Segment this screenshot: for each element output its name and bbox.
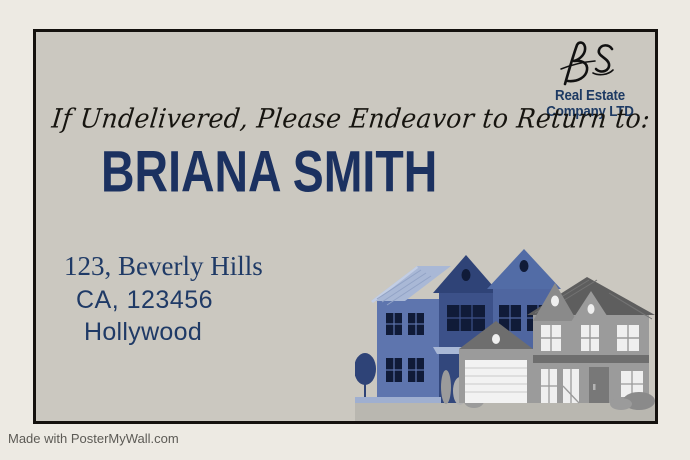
brand-name-line1: Real Estate: [539, 89, 640, 104]
address-line-city: Hollywood: [84, 316, 263, 349]
footer-credit: Made with PosterMyWall.com: [8, 431, 179, 446]
recipient-name: BRIANA SMITH: [101, 143, 437, 201]
return-instruction-script: If Undelivered, Please Endeavor to Retur…: [50, 103, 651, 134]
suburban-houses-illustration: [355, 221, 655, 421]
envelope-card: Real Estate Company LTD If Undelivered, …: [33, 29, 658, 424]
address-line-street: 123, Beverly Hills: [64, 250, 263, 284]
address-block: 123, Beverly Hills CA, 123456 Hollywood: [64, 250, 263, 349]
bs-script-monogram-icon: [555, 40, 625, 88]
address-line-region: CA, 123456: [76, 284, 263, 317]
